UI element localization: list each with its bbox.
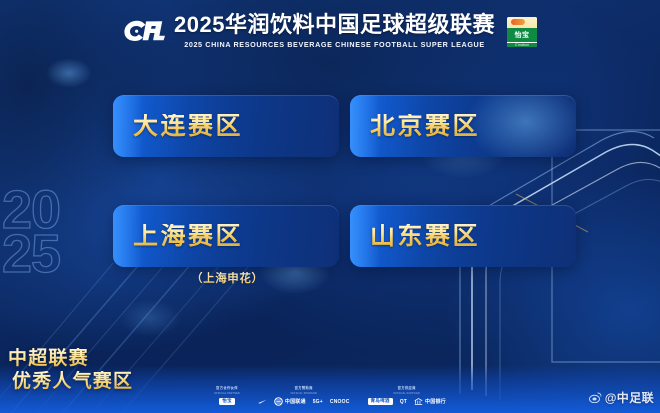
venue-card-label: 上海赛区 [133, 224, 243, 249]
cestbon-badge-icon: 怡宝 C'estbon [507, 17, 537, 47]
venue-card-shanghai[interactable]: 上海赛区 [113, 205, 339, 267]
cestbon-logo: 怡宝 [219, 397, 235, 406]
sponsor-logo-row: 中国联通 5G+ CNOOC [258, 397, 350, 406]
venue-card-shandong[interactable]: 山东赛区 [350, 205, 576, 267]
cnooc-logo-text: CNOOC [330, 399, 350, 405]
venue-card-label: 北京赛区 [370, 114, 480, 139]
poster-header: 2025华润饮料中国足球超级联赛 2025 CHINA RESOURCES BE… [0, 0, 660, 62]
caption-block: 中超联赛 优秀人气赛区 [8, 348, 133, 393]
league-title-en: 2025 CHINA RESOURCES BEVERAGE CHINESE FO… [184, 40, 485, 49]
venue-card-grid: 大连赛区 北京赛区 上海赛区 （上海申花） 山东赛区 [113, 95, 576, 267]
cnooc-logo: CNOOC [330, 397, 350, 406]
badge-top-art [507, 17, 537, 28]
caption-line-2: 优秀人气赛区 [12, 371, 133, 393]
badge-brand-cn: 怡宝 [507, 28, 537, 42]
caption-line-1: 中超联赛 [8, 348, 133, 370]
fivegplus-logo-text: 5G+ [313, 399, 323, 405]
bank-logo-text: 中国银行 [425, 398, 446, 405]
venue-card-dalian[interactable]: 大连赛区 [113, 95, 339, 157]
badge-brand-en: C'estbon [507, 42, 537, 47]
weibo-watermark: @中足联 [589, 389, 654, 406]
light-glint [46, 58, 92, 88]
sponsor-logo-row: 怡宝 [219, 397, 235, 406]
weibo-handle: @中足联 [605, 389, 654, 406]
cfl-logo-icon [123, 17, 165, 44]
sponsor-group-sponsor: 官方赞助商 OFFICIAL SPONSOR 中国联通 5G+ CNO [258, 385, 350, 406]
venue-card-wrapper: 大连赛区 [113, 95, 339, 157]
year-watermark: 20 25 [2, 188, 60, 277]
poster-stage: 2025华润饮料中国足球超级联赛 2025 CHINA RESOURCES BE… [0, 0, 660, 413]
china-unicom-logo-text: 中国联通 [285, 398, 306, 405]
sponsor-group-heading-cn: 官方赞助商 [295, 385, 313, 390]
china-unicom-logo: 中国联通 [274, 397, 306, 406]
sponsor-group-heading-en: OFFICIAL SPONSOR [290, 392, 317, 395]
tsingtao-logo-text: 青岛啤酒 [368, 398, 393, 405]
nike-logo [258, 397, 267, 406]
tsingtao-logo: 青岛啤酒 [368, 397, 393, 406]
qt-logo: QT [400, 397, 407, 406]
venue-card-label: 山东赛区 [370, 224, 480, 249]
sponsor-group-heading-cn: 官方合作伙伴 [216, 385, 238, 390]
unicom-mark-icon [274, 397, 283, 406]
bank-logo: 中国银行 [414, 397, 446, 406]
venue-card-sublabel: （上海申花） [191, 270, 264, 286]
qt-logo-text: QT [400, 399, 407, 405]
venue-card-wrapper: 山东赛区 [350, 205, 576, 267]
year-watermark-top: 20 [2, 188, 60, 232]
bank-mark-icon [414, 397, 423, 406]
fivegplus-logo: 5G+ [313, 397, 323, 406]
year-watermark-bottom: 25 [2, 232, 60, 276]
venue-card-wrapper: 北京赛区 [350, 95, 576, 157]
sponsor-group-heading-en: OFFICIAL SUPPLIER [393, 392, 420, 395]
league-title-cn: 2025华润饮料中国足球超级联赛 [174, 13, 495, 36]
sponsor-logo-row: 青岛啤酒 QT 中国银行 [368, 397, 446, 406]
venue-card-beijing[interactable]: 北京赛区 [350, 95, 576, 157]
venue-card-label: 大连赛区 [133, 114, 243, 139]
sponsor-group-heading-en: OFFICIAL PARTNER [214, 392, 240, 395]
weibo-icon [589, 392, 602, 403]
light-glint [120, 300, 180, 336]
cestbon-logo-text: 怡宝 [219, 398, 235, 405]
venue-card-wrapper: 上海赛区 （上海申花） [113, 205, 339, 267]
sponsor-group-supplier: 官方供应商 OFFICIAL SUPPLIER 青岛啤酒 QT 中国银行 [368, 385, 446, 406]
header-title-block: 2025华润饮料中国足球超级联赛 2025 CHINA RESOURCES BE… [174, 13, 495, 48]
sponsor-group-partner: 官方合作伙伴 OFFICIAL PARTNER 怡宝 [214, 385, 240, 406]
sponsor-group-heading-cn: 官方供应商 [398, 385, 416, 390]
